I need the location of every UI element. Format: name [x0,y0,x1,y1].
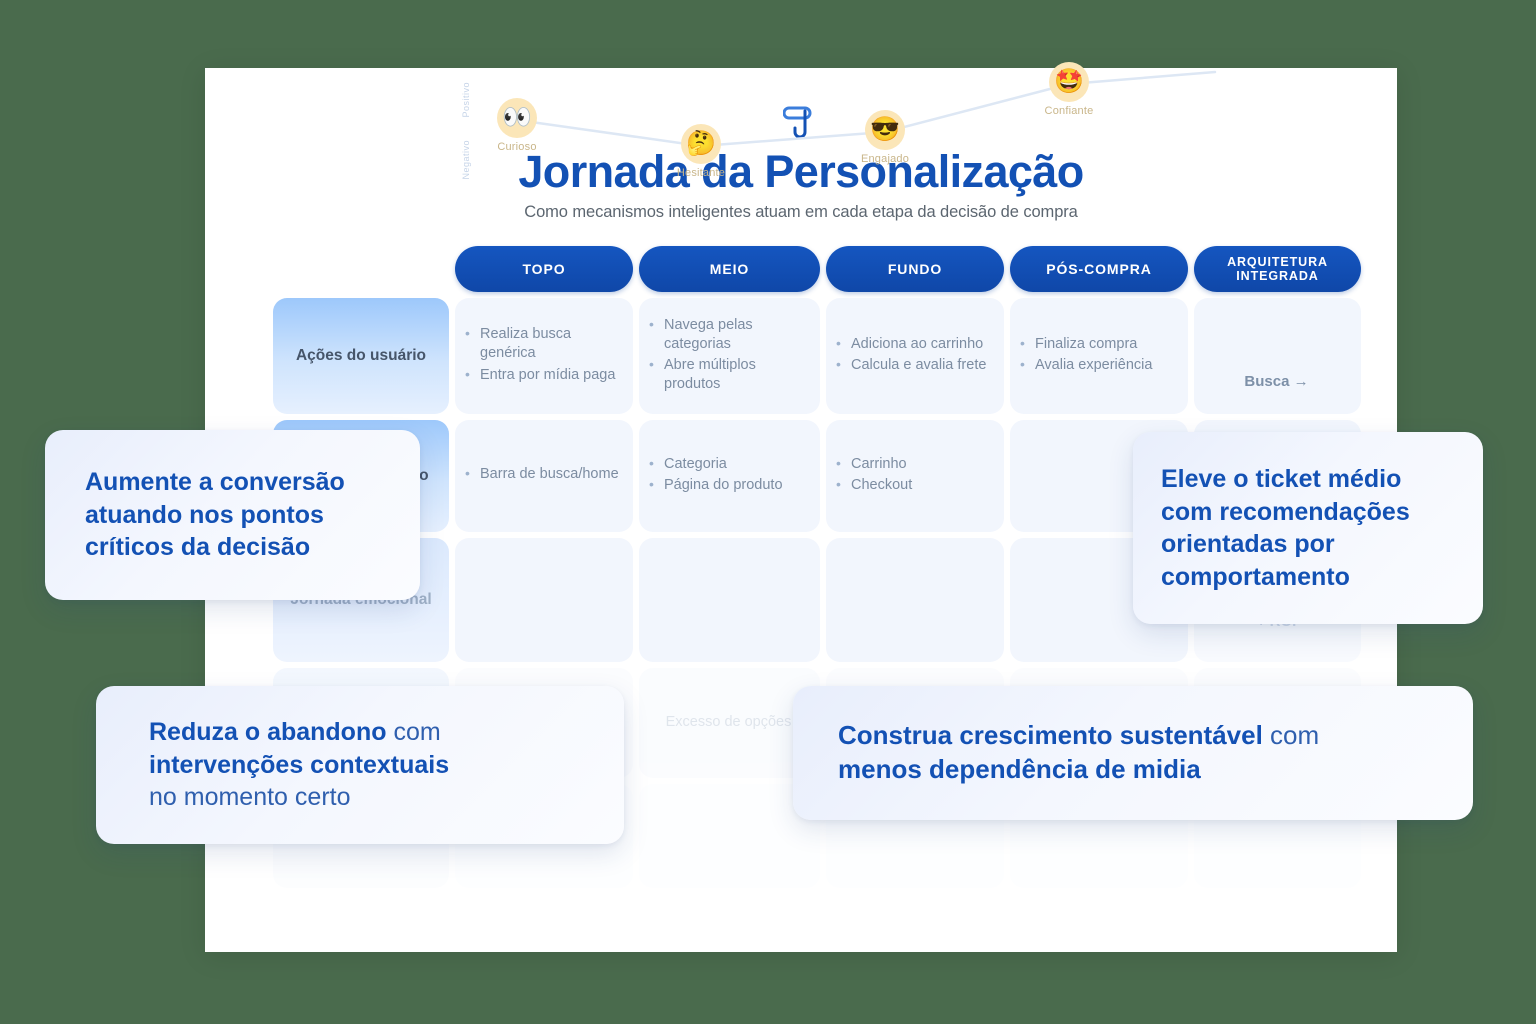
callout-text-regular: no momento certo [149,783,351,811]
list-item: Adiciona ao carrinho [836,335,986,354]
list-item: Categoria [649,455,783,474]
star-struck-face-icon: 🤩 [1049,62,1089,102]
list-item: Calcula e avalia frete [836,356,986,375]
callout-text-strong: Construa crescimento sustentável [838,720,1263,750]
callout-card-eleve-o-ticket-medio[interactable]: Eleve o ticket médio com recomendações o… [1133,432,1483,624]
cell-pontos-fundo: Carrinho Checkout [826,420,1004,532]
cell-arquitetura-busca: Busca → [1194,298,1361,414]
callout-text-strong: Reduza o abandono [149,718,387,746]
cell-pontos-meio: Categoria Página do produto [639,420,820,532]
callout-text: Eleve o ticket médio com recomendações o… [1161,463,1453,593]
page-subtitle: Como mecanismos inteligentes atuam em ca… [205,203,1397,222]
list-item: Abre múltiplos produtos [649,356,808,394]
list-item: Página do produto [649,476,783,495]
cell-acoes-pos-compra: Finaliza compra Avalia experiência [1010,298,1188,414]
callout-card-construa-crescimento-sustentavel[interactable]: Construa crescimento sustentável com men… [793,686,1473,820]
callout-text-mid: com [387,718,441,746]
list-item: Checkout [836,476,912,495]
page-title: Jornada da Personalização [205,146,1397,198]
cell-emocional-topo [455,538,633,662]
list-item: Entra por mídia paga [465,366,621,385]
list-item: Realiza busca genérica [465,325,621,363]
matrix-corner-spacer [273,246,449,292]
list-item: Avalia experiência [1020,356,1152,375]
column-header-meio[interactable]: MEIO [639,246,820,292]
callout-card-aumente-a-conversao[interactable]: Aumente a conversão atuando nos pontos c… [45,430,420,600]
architecture-search-label: Busca → [1244,371,1308,393]
row-label-acoes-do-usuario: Ações do usuário [273,298,449,414]
callout-text-strong-2: menos dependência de midia [838,754,1201,784]
callout-card-reduza-o-abandono[interactable]: Reduza o abandono com intervenções conte… [96,686,624,844]
list-item: Carrinho [836,455,912,474]
cell-emocional-fundo [826,538,1004,662]
cell-emocional-meio [639,538,820,662]
list-item: Barra de busca/home [465,465,619,484]
cell-acoes-topo: Realiza busca genérica Entra por mídia p… [455,298,633,414]
callout-text: Aumente a conversão atuando nos pontos c… [85,466,390,564]
cell-acoes-meio: Navega pelas categorias Abre múltiplos p… [639,298,820,414]
brand-mark-icon [205,102,1397,147]
column-header-topo[interactable]: TOPO [455,246,633,292]
list-item: Navega pelas categorias [649,316,808,354]
cell-pontos-topo: Barra de busca/home [455,420,633,532]
column-header-arquitetura[interactable]: ARQUITETURA INTEGRADA [1194,246,1361,292]
callout-text-mid: com [1263,720,1319,750]
list-item: Finaliza compra [1020,335,1152,354]
cell-acoes-fundo: Adiciona ao carrinho Calcula e avalia fr… [826,298,1004,414]
column-header-fundo[interactable]: FUNDO [826,246,1004,292]
column-header-pos-compra[interactable]: PÓS-COMPRA [1010,246,1188,292]
callout-text-strong-2: intervenções contextuais [149,751,449,779]
